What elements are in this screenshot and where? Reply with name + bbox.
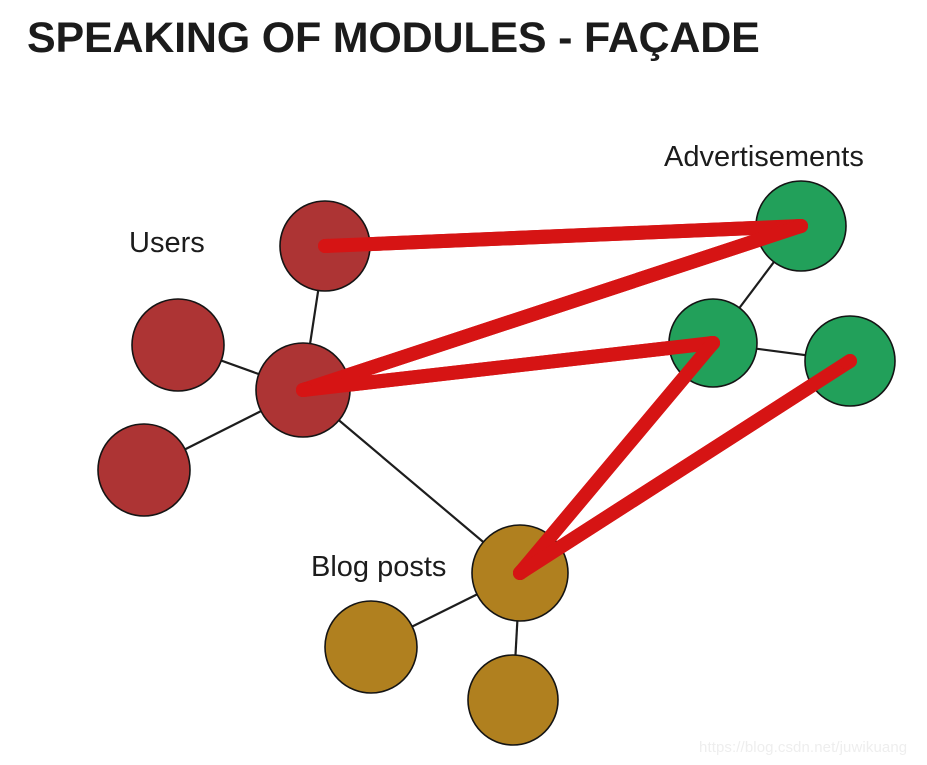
slide-canvas: SPEAKING OF MODULES - FAÇADE Users Adver… xyxy=(0,0,927,765)
thin-edge-layer xyxy=(144,226,850,700)
graph-node-b-low[interactable] xyxy=(468,655,558,745)
node-layer xyxy=(98,181,895,745)
graph-edge-thick-cap xyxy=(520,571,523,573)
thick-edge-top-layer xyxy=(303,226,850,573)
graph-edge-thick-cap xyxy=(520,343,713,573)
cluster-label-blog-posts: Blog posts xyxy=(311,551,446,584)
thick-edge-layer xyxy=(303,226,850,573)
graph-edge-thick-cap xyxy=(520,361,850,573)
graph-edge-thick-cap xyxy=(711,343,713,345)
graph-node-u-left[interactable] xyxy=(132,299,224,391)
graph-node-u-low[interactable] xyxy=(98,424,190,516)
cluster-label-advertisements: Advertisements xyxy=(664,141,864,174)
graph-edge-thick-cap xyxy=(847,361,850,363)
graph-edge-thick-cap xyxy=(798,226,801,227)
module-dependency-graph xyxy=(0,0,927,765)
graph-node-b-left[interactable] xyxy=(325,601,417,693)
cluster-label-users: Users xyxy=(129,227,205,260)
watermark-text: https://blog.csdn.net/juwikuang xyxy=(699,739,907,756)
